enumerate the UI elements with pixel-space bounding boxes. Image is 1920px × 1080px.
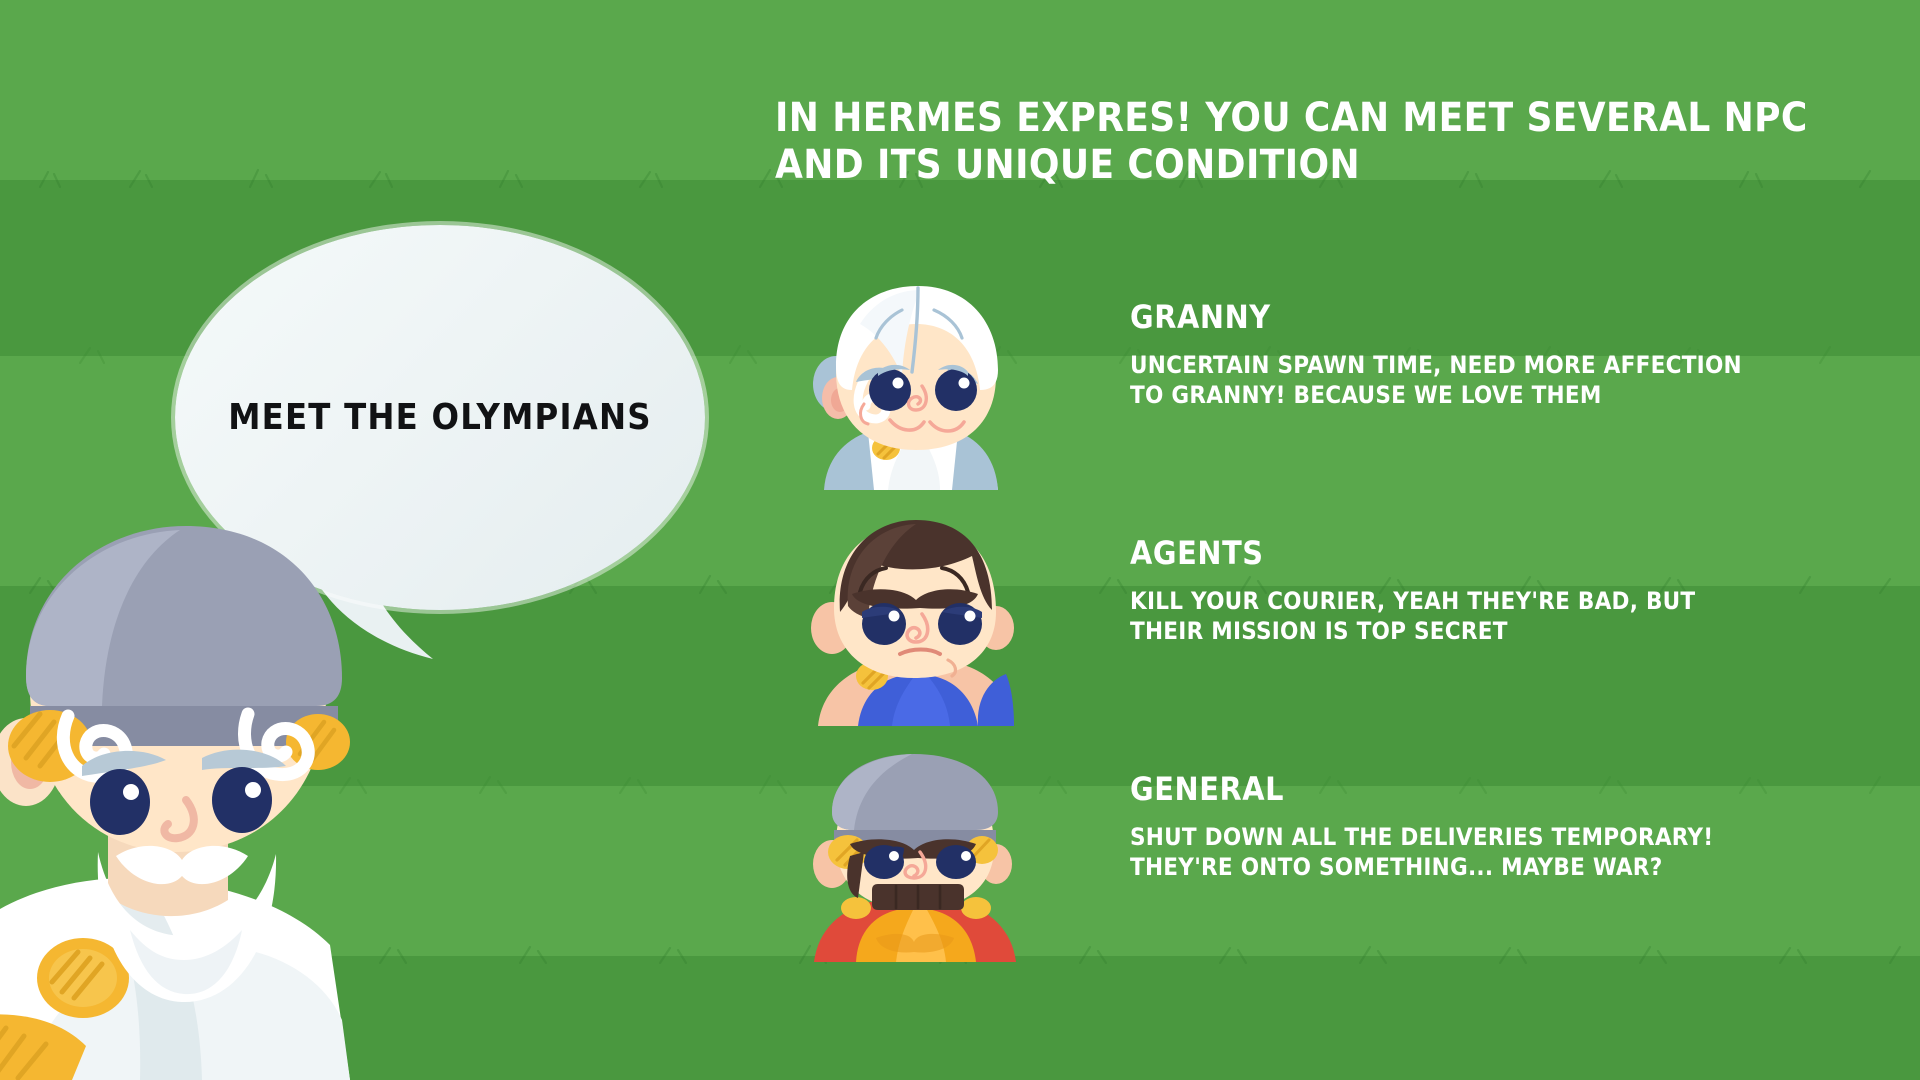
headline-line-1: In hermes expres! you can meet several N… (775, 95, 1735, 142)
page-headline: In hermes expres! you can meet several N… (775, 95, 1735, 189)
npc-row-general: General Shut down all the deliveries tem… (800, 752, 1870, 988)
agents-portrait-icon (800, 516, 1030, 726)
granny-copy: Granny Uncertain spawn time, need more a… (1130, 298, 1830, 411)
granny-portrait-icon (800, 280, 1030, 490)
npc-desc-general: Shut down all the deliveries temporary! … (1130, 822, 1830, 883)
npc-list: Granny Uncertain spawn time, need more a… (800, 280, 1870, 988)
npc-name-general: General (1130, 770, 1830, 808)
npc-row-agents: Agents Kill your courier, yeah they're b… (800, 516, 1870, 752)
agents-copy: Agents Kill your courier, yeah they're b… (1130, 534, 1830, 647)
general-copy: General Shut down all the deliveries tem… (1130, 770, 1830, 883)
general-portrait-icon (800, 752, 1030, 962)
npc-desc-agents: Kill your courier, yeah they're bad, but… (1130, 586, 1830, 647)
npc-name-granny: Granny (1130, 298, 1830, 336)
npc-desc-granny: Uncertain spawn time, need more affectio… (1130, 350, 1830, 411)
zeus-character-illustration (0, 500, 460, 1080)
headline-line-2: and its unique condition (775, 142, 1735, 189)
npc-row-granny: Granny Uncertain spawn time, need more a… (800, 280, 1870, 516)
npc-name-agents: Agents (1130, 534, 1830, 572)
